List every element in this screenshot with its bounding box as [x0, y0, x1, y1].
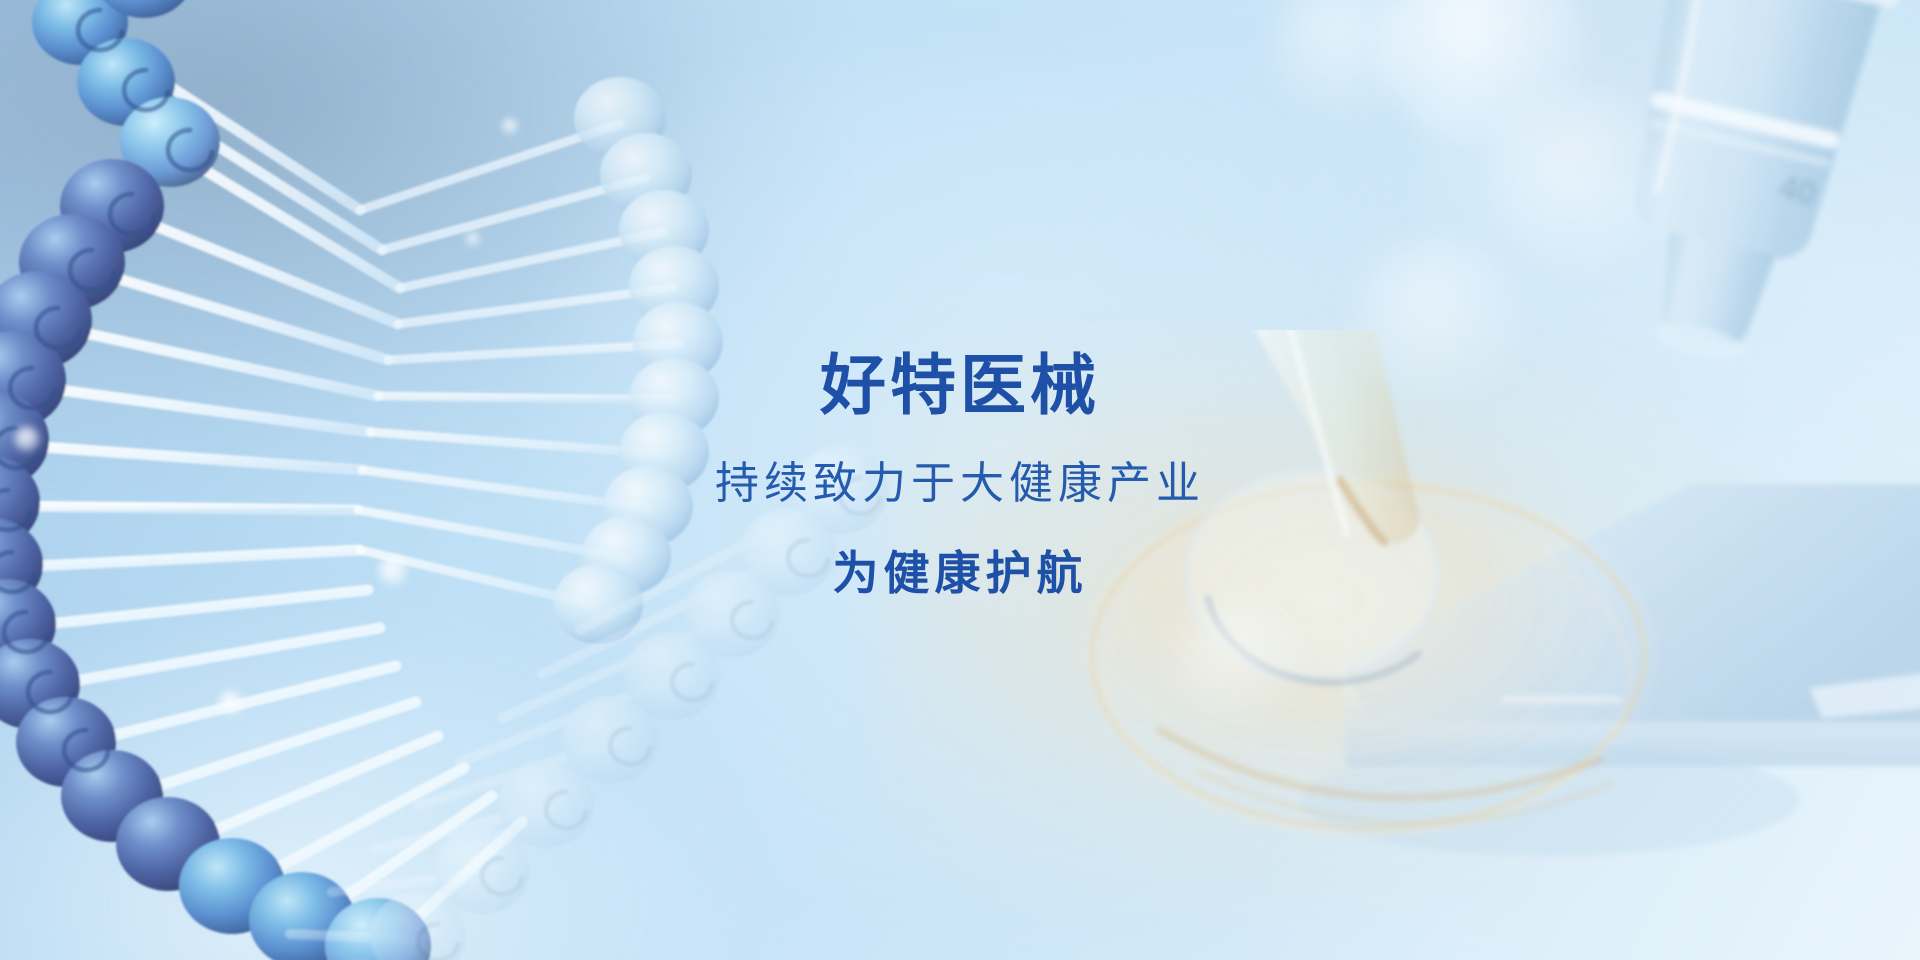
banner-headline: 好特医械 — [820, 352, 1100, 418]
banner-text-block: 好特医械 持续致力于大健康产业 为健康护航 — [0, 0, 1920, 960]
banner-subline: 持续致力于大健康产业 — [715, 462, 1205, 506]
banner-tagline: 为健康护航 — [833, 550, 1088, 596]
hero-banner: 40 — [0, 0, 1920, 960]
